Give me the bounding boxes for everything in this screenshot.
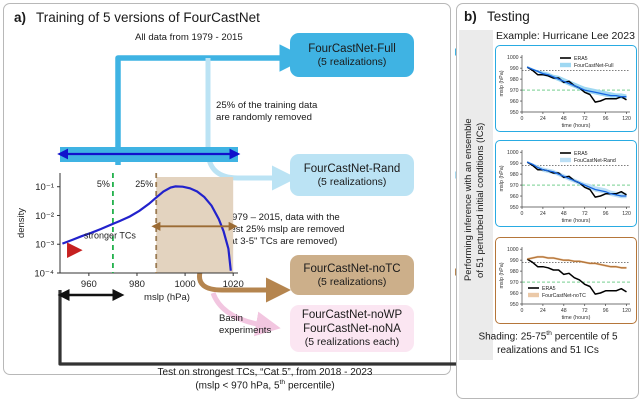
svg-text:980: 980 (510, 77, 519, 83)
chart-hurricane-lee-full: 9509609709809901000024487296120time (hou… (495, 45, 637, 132)
bottom-note-pre: (mslp < 970 hPa, 5 (195, 380, 279, 391)
node-nona-title: FourCastNet-noNA (303, 322, 401, 336)
svg-text:24: 24 (540, 211, 546, 217)
svg-text:0: 0 (521, 308, 524, 314)
node-notc-sub: (5 realizations) (318, 276, 387, 289)
svg-text:mslp (hPa): mslp (hPa) (499, 70, 505, 96)
svg-text:1020: 1020 (223, 279, 244, 290)
chart-notc-svg: 9509609709809901000024487296120time (hou… (496, 238, 636, 323)
node-rand-sub: (5 realizations) (318, 176, 387, 189)
svg-text:10⁻¹: 10⁻¹ (35, 182, 54, 193)
svg-text:990: 990 (510, 258, 519, 264)
svg-text:980: 980 (510, 269, 519, 275)
svg-text:120: 120 (622, 308, 631, 314)
svg-text:ERA5: ERA5 (542, 286, 556, 292)
panel-b-label: b) (464, 9, 477, 24)
svg-text:stronger TCs: stronger TCs (84, 230, 136, 240)
svg-text:time (hours): time (hours) (562, 315, 591, 321)
caption-pre: Shading: 25-75 (478, 331, 546, 342)
svg-text:970: 970 (510, 88, 519, 94)
svg-text:960: 960 (81, 279, 97, 290)
svg-text:980: 980 (510, 172, 519, 178)
svg-text:120: 120 (622, 116, 631, 122)
svg-text:950: 950 (510, 302, 519, 308)
svg-text:density: density (16, 208, 27, 238)
svg-text:FouCastNet-Rand: FouCastNet-Rand (574, 158, 616, 164)
svg-text:ERA5: ERA5 (574, 56, 588, 62)
svg-text:FourCastNet-noTC: FourCastNet-noTC (542, 293, 586, 299)
chart-full-svg: 9509609709809901000024487296120time (hou… (496, 46, 636, 131)
svg-text:990: 990 (510, 66, 519, 72)
panel-b-caption-line1: Shading: 25-75th percentile of 5 (460, 330, 636, 343)
svg-text:0: 0 (521, 116, 524, 122)
node-fourcastnet-basin[interactable]: FourCastNet-noWP FourCastNet-noNA (5 rea… (290, 305, 414, 352)
caption-post: percentile of 5 (552, 331, 618, 342)
svg-text:10⁻²: 10⁻² (35, 211, 54, 222)
svg-text:970: 970 (510, 183, 519, 189)
svg-text:960: 960 (510, 194, 519, 200)
svg-text:980: 980 (129, 279, 145, 290)
svg-text:96: 96 (603, 211, 609, 217)
chart-hurricane-lee-rand: 9509609709809901000024487296120time (hou… (495, 140, 637, 227)
svg-text:mslp (hPa): mslp (hPa) (144, 292, 190, 303)
svg-text:10⁻³: 10⁻³ (35, 240, 54, 251)
node-basin-sub: (5 realizations each) (305, 336, 400, 349)
svg-text:FourCastNet-Full: FourCastNet-Full (574, 63, 614, 69)
svg-text:96: 96 (603, 308, 609, 314)
svg-text:950: 950 (510, 110, 519, 116)
svg-text:25%: 25% (135, 179, 153, 189)
density-chart: 10⁻¹10⁻²10⁻³10⁻⁴96098010001020mslp (hPa)… (14, 145, 244, 310)
panel-b-caption-line2: realizations and 51 ICs (460, 344, 636, 357)
svg-text:10⁻⁴: 10⁻⁴ (34, 269, 54, 280)
svg-text:1000: 1000 (507, 150, 519, 156)
node-nowp-title: FourCastNet-noWP (302, 308, 402, 322)
bottom-note-line1: Test on strongest TCs, “Cat 5”, from 201… (100, 366, 430, 379)
svg-text:mslp (hPa): mslp (hPa) (499, 262, 505, 288)
svg-text:48: 48 (561, 116, 567, 122)
node-full-title: FourCastNet-Full (308, 42, 396, 56)
bottom-note-post: percentile) (285, 380, 334, 391)
node-notc-title: FourCastNet-noTC (303, 262, 400, 276)
svg-text:48: 48 (561, 308, 567, 314)
svg-text:72: 72 (582, 116, 588, 122)
svg-text:1000: 1000 (175, 279, 196, 290)
node-fourcastnet-rand[interactable]: FourCastNet-Rand (5 realizations) (290, 154, 414, 196)
panel-b-title: Testing (487, 9, 530, 24)
svg-text:72: 72 (582, 211, 588, 217)
bottom-note-line2: (mslp < 970 hPa, 5th percentile) (100, 379, 430, 392)
svg-text:0: 0 (521, 211, 524, 217)
svg-text:48: 48 (561, 211, 567, 217)
note-all-data: All data from 1979 - 2015 (135, 32, 243, 44)
node-full-sub: (5 realizations) (318, 56, 387, 69)
chart-rand-svg: 9509609709809901000024487296120time (hou… (496, 141, 636, 226)
note-basin-line1: Basin (219, 313, 243, 325)
svg-text:120: 120 (622, 211, 631, 217)
chart-hurricane-lee-notc: 9509609709809901000024487296120time (hou… (495, 237, 637, 324)
svg-text:72: 72 (582, 308, 588, 314)
svg-text:5%: 5% (97, 179, 110, 189)
svg-text:96: 96 (603, 116, 609, 122)
svg-text:24: 24 (540, 116, 546, 122)
svg-text:1000: 1000 (507, 247, 519, 253)
svg-text:ERA5: ERA5 (574, 151, 588, 157)
svg-text:1000: 1000 (507, 55, 519, 61)
note-random-removal: 25% of the training data are randomly re… (216, 100, 317, 125)
svg-text:time (hours): time (hours) (562, 123, 591, 129)
svg-text:24: 24 (540, 308, 546, 314)
svg-text:time (hours): time (hours) (562, 218, 591, 224)
node-rand-title: FourCastNet-Rand (304, 162, 401, 176)
node-fourcastnet-notc[interactable]: FourCastNet-noTC (5 realizations) (290, 255, 414, 295)
node-fourcastnet-full[interactable]: FourCastNet-Full (5 realizations) (290, 33, 414, 77)
svg-text:990: 990 (510, 161, 519, 167)
svg-text:960: 960 (510, 291, 519, 297)
note-basin-line2: experiments (219, 325, 271, 337)
svg-text:950: 950 (510, 205, 519, 211)
svg-text:mslp (hPa): mslp (hPa) (499, 165, 505, 191)
panel-b-sidebar-text: Performing inference with an ensemble of… (462, 80, 490, 320)
svg-text:960: 960 (510, 99, 519, 105)
svg-text:970: 970 (510, 280, 519, 286)
example-title: Example: Hurricane Lee 2023 (496, 30, 635, 42)
